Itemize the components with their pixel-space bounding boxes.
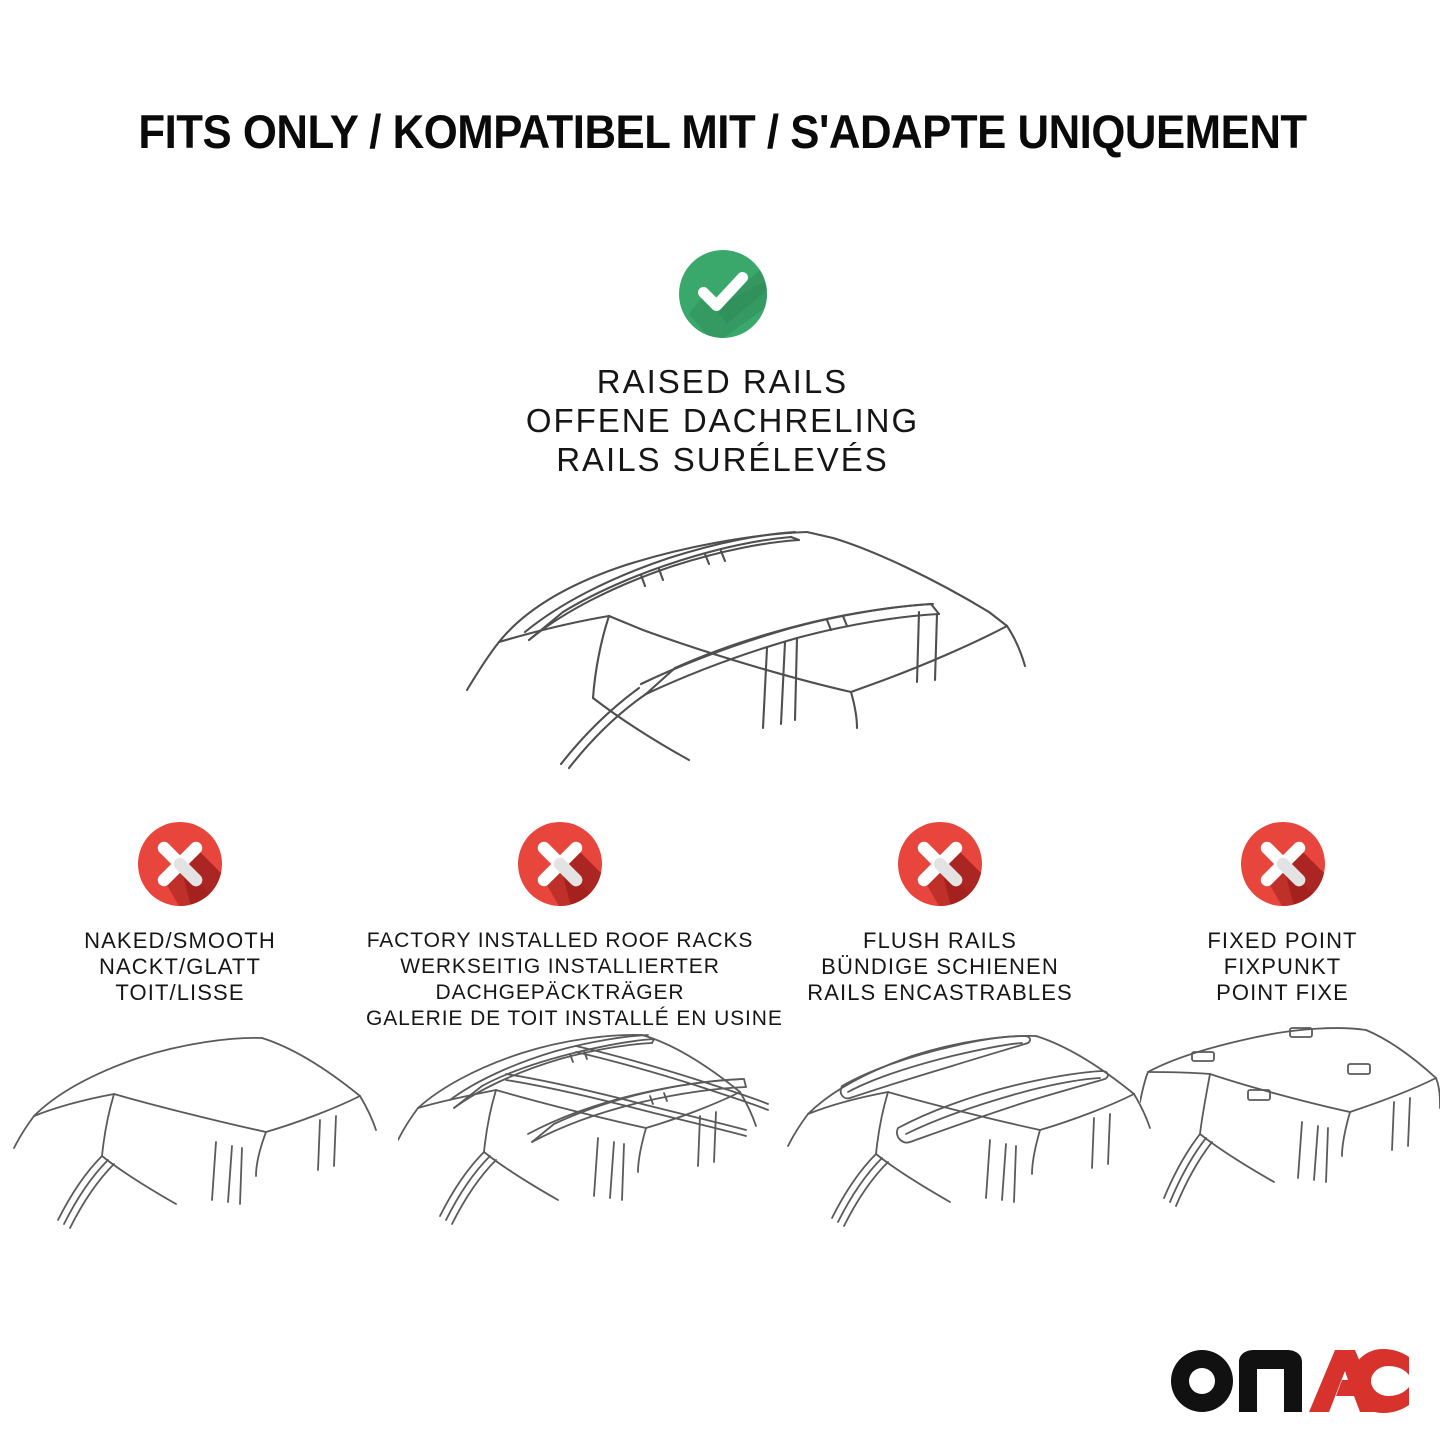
incompatible-item-flush-rails: FLUSH RAILS BÜNDIGE SCHIENEN RAILS ENCAS… [760, 818, 1120, 1006]
compatibility-infographic: FITS ONLY / KOMPATIBEL MIT / S'ADAPTE UN… [0, 0, 1445, 1445]
incompatible-label-fr: RAILS ENCASTRABLES [770, 980, 1110, 1006]
incompatible-item-factory-racks: FACTORY INSTALLED ROOF RACKS WERKSEITIG … [360, 818, 760, 1032]
incompatible-label-de: NACKT/GLATT [14, 954, 346, 980]
cross-circle-icon [514, 818, 606, 910]
compatible-labels: RAISED RAILS OFFENE DACHRELING RAILS SUR… [0, 362, 1445, 479]
logo-letter-o [1171, 1350, 1233, 1412]
incompatible-label-de: BÜNDIGE SCHIENEN [770, 954, 1110, 980]
compatible-section: RAISED RAILS OFFENE DACHRELING RAILS SUR… [0, 246, 1445, 479]
car-roof-factory-racks-illustration [398, 1024, 770, 1254]
cross-circle-icon [894, 818, 986, 910]
incompatible-labels: NAKED/SMOOTH NACKT/GLATT TOIT/LISSE [14, 928, 346, 1006]
compatible-label-de: OFFENE DACHRELING [0, 401, 1445, 440]
car-roof-raised-rails-illustration [403, 492, 1043, 792]
incompatible-label-en: FIXED POINT [1130, 928, 1435, 954]
incompatible-labels: FACTORY INSTALLED ROOF RACKS WERKSEITIG … [366, 928, 754, 1032]
car-roof-fixed-point-illustration [1140, 1024, 1440, 1254]
incompatible-labels: FLUSH RAILS BÜNDIGE SCHIENEN RAILS ENCAS… [770, 928, 1110, 1006]
car-roof-flush-rails-illustration [786, 1024, 1158, 1254]
cross-circle-icon [134, 818, 226, 910]
logo-letter-m [1239, 1350, 1302, 1412]
incompatible-label-de-1: WERKSEITIG INSTALLIERTER [366, 954, 754, 980]
page-title: FITS ONLY / KOMPATIBEL MIT / S'ADAPTE UN… [51, 104, 1395, 160]
incompatible-label-fr: TOIT/LISSE [14, 980, 346, 1006]
incompatible-label-fr: POINT FIXE [1130, 980, 1435, 1006]
omac-logo [1169, 1345, 1409, 1417]
incompatible-item-fixed-point: FIXED POINT FIXPUNKT POINT FIXE [1120, 818, 1445, 1006]
compatible-label-fr: RAILS SURÉLEVÉS [0, 440, 1445, 479]
incompatible-label-en: FLUSH RAILS [770, 928, 1110, 954]
incompatible-item-naked-smooth: NAKED/SMOOTH NACKT/GLATT TOIT/LISSE [0, 818, 360, 1006]
compatible-label-en: RAISED RAILS [0, 362, 1445, 401]
cross-circle-icon [1237, 818, 1329, 910]
incompatible-labels: FIXED POINT FIXPUNKT POINT FIXE [1130, 928, 1435, 1006]
incompatible-label-en: NAKED/SMOOTH [14, 928, 346, 954]
car-roof-naked-smooth-illustration [10, 1024, 382, 1254]
incompatible-label-en: FACTORY INSTALLED ROOF RACKS [366, 928, 754, 954]
incompatible-label-de-2: DACHGEPÄCKTRÄGER [366, 980, 754, 1006]
check-circle-icon [675, 246, 771, 342]
incompatible-label-de: FIXPUNKT [1130, 954, 1435, 980]
incompatible-section: NAKED/SMOOTH NACKT/GLATT TOIT/LISSE [0, 818, 1445, 1032]
